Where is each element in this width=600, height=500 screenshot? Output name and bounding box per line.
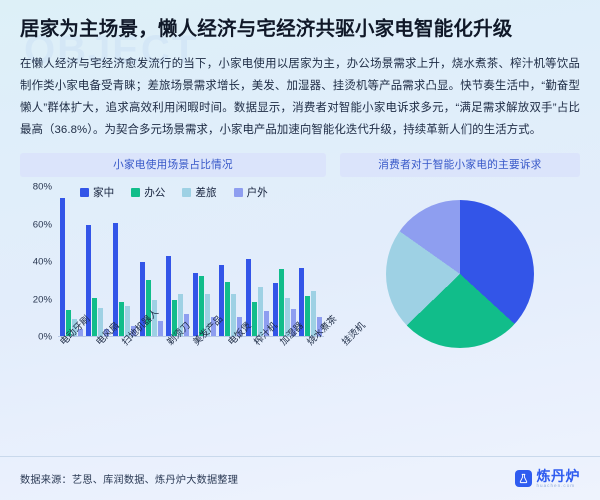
brand-url: huachen.com	[537, 484, 581, 489]
x-axis-label: 榨汁机	[252, 338, 278, 352]
bar-户外[interactable]	[158, 321, 163, 337]
footer: 数据来源：艺恩、库润数据、炼丹炉大数据整理 炼丹炉 huachen.com	[0, 456, 600, 500]
bar-家中[interactable]	[166, 256, 171, 337]
y-axis: 0%20%40%60%80%	[20, 187, 54, 337]
article-body-text: 在懒人经济与宅经济愈发流行的当下，小家电使用以居家为主，办公场景需求上升，烧水煮…	[20, 54, 580, 142]
x-axis-labels: 电动牙刷电风扇扫地机器人剃须刀美发产品电饭煲榨汁机加湿器烧水煮茶挂烫机	[58, 338, 324, 352]
flask-icon	[515, 470, 532, 487]
bar-办公[interactable]	[92, 298, 97, 336]
bar-家中[interactable]	[60, 198, 65, 337]
bar-group[interactable]	[111, 187, 138, 336]
bar-办公[interactable]	[225, 282, 230, 336]
legend-swatch-icon	[80, 188, 89, 197]
bar-家中[interactable]	[193, 273, 198, 337]
bar-group[interactable]	[244, 187, 271, 336]
y-axis-tick: 20%	[33, 294, 52, 305]
legend-label: 差旅	[195, 185, 216, 200]
legend-label: 办公	[144, 185, 165, 200]
bar-groups	[58, 187, 324, 337]
legend-swatch-icon	[234, 188, 243, 197]
x-axis-label: 电动牙刷	[58, 338, 94, 352]
bar-group[interactable]	[297, 187, 324, 336]
legend-swatch-icon	[182, 188, 191, 197]
y-axis-tick: 60%	[33, 219, 52, 230]
chart-title-bar: 小家电使用场景占比情况 消费者对于智能小家电的主要诉求	[20, 153, 580, 177]
bar-chart-legend: 家中办公差旅户外	[80, 185, 268, 200]
bar-group[interactable]	[85, 187, 112, 336]
x-axis-label: 电风扇	[94, 338, 120, 352]
legend-item-2[interactable]: 差旅	[182, 185, 216, 200]
page-content: 居家为主场景，懒人经济与宅经济共驱小家电智能化升级 在懒人经济与宅经济愈发流行的…	[0, 0, 600, 359]
page-title: 居家为主场景，懒人经济与宅经济共驱小家电智能化升级	[20, 16, 580, 43]
bar-group[interactable]	[271, 187, 298, 336]
x-axis-label: 剃须刀	[165, 338, 191, 352]
legend-label: 家中	[93, 185, 114, 200]
pie-chart-title: 消费者对于智能小家电的主要诉求	[340, 153, 580, 177]
x-axis-label: 扫地机器人	[120, 338, 165, 352]
charts-row: 家中办公差旅户外 0%20%40%60%80% 电动牙刷电风扇扫地机器人剃须刀美…	[20, 185, 580, 359]
pie-chart-panel	[340, 185, 580, 359]
legend-swatch-icon	[131, 188, 140, 197]
brand-name: 炼丹炉	[537, 469, 581, 483]
bar-group[interactable]	[218, 187, 245, 336]
bar-chart-plot-area: 0%20%40%60%80% 电动牙刷电风扇扫地机器人剃须刀美发产品电饭煲榨汁机…	[20, 187, 326, 359]
x-axis-label: 烧水煮茶	[305, 338, 341, 352]
data-source-note: 数据来源：艺恩、库润数据、炼丹炉大数据整理	[20, 471, 238, 486]
brand-logo: 炼丹炉 huachen.com	[515, 469, 581, 489]
bar-办公[interactable]	[279, 269, 284, 337]
y-axis-tick: 40%	[33, 257, 52, 268]
legend-label: 户外	[247, 185, 268, 200]
x-axis-label: 美发产品	[191, 338, 227, 352]
bar-chart-title: 小家电使用场景占比情况	[20, 153, 326, 177]
pie-chart	[386, 200, 534, 348]
y-axis-tick: 0%	[38, 332, 52, 343]
bar-chart-panel: 家中办公差旅户外 0%20%40%60%80% 电动牙刷电风扇扫地机器人剃须刀美…	[20, 185, 326, 359]
bar-group[interactable]	[164, 187, 191, 336]
legend-item-3[interactable]: 户外	[234, 185, 268, 200]
y-axis-tick: 80%	[33, 182, 52, 193]
x-axis-label: 电饭煲	[226, 338, 252, 352]
legend-item-0[interactable]: 家中	[80, 185, 114, 200]
legend-item-1[interactable]: 办公	[131, 185, 165, 200]
x-axis-label: 加湿器	[278, 338, 304, 352]
brand-text: 炼丹炉 huachen.com	[537, 469, 581, 489]
